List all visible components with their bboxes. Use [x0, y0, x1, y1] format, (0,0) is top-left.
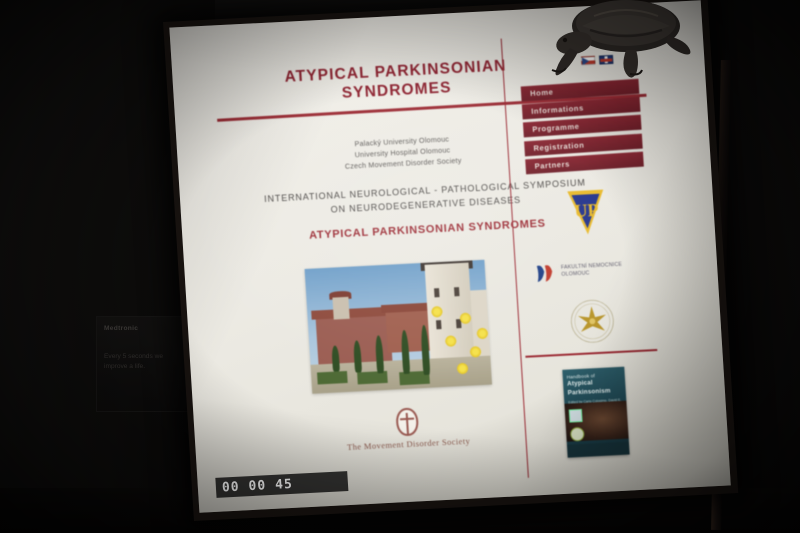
hospital-logo-text: FAKULTNÍ NEMOCNICE OLOMOUC [561, 262, 623, 279]
photo-window [454, 287, 460, 296]
timecode-minutes: 00 [248, 478, 267, 494]
right-column-divider [525, 349, 657, 357]
slide-right-column: Home Informations Programme Registration… [501, 31, 676, 478]
book-badge-primary [569, 409, 583, 423]
timecode-seconds: 45 [275, 476, 294, 492]
svg-text:UP: UP [574, 200, 599, 221]
medtronic-tagline: Every 5 seconds we improve a life. [104, 352, 184, 372]
venue-photo [305, 260, 493, 394]
photo-turret [332, 297, 349, 320]
photo-lawn-bed [317, 371, 348, 385]
partner-logos: UP FAKULTNÍ NEMOCNICE OLOMOUC [525, 179, 655, 345]
handbook-book-cover: Handbook of Atypical Parkinsonism Edited… [562, 367, 629, 458]
book-spine-strip [567, 442, 630, 458]
book-title: Handbook of Atypical Parkinsonism [567, 372, 622, 398]
conference-room-scene: Medtronic Every 5 seconds we improve a l… [0, 0, 800, 533]
turtle-sculpture-icon [534, 0, 704, 78]
photo-window [436, 320, 442, 329]
society-caption: The Movement Disorder Society [313, 434, 503, 454]
site-navigation-menu[interactable]: Home Informations Programme Registration… [521, 80, 644, 177]
projection-screen-frame: ATYPICAL PARKINSONIAN SYNDROMES Palacký … [163, 0, 738, 521]
photo-window [434, 288, 440, 297]
medtronic-logo-text: Medtronic [104, 325, 184, 332]
gold-star-emblem-icon [568, 297, 617, 345]
timecode-hours: 00 [221, 479, 240, 495]
affiliations-list: Palacký University Olomouc University Ho… [267, 129, 539, 176]
brain-emblem-icon [395, 407, 419, 436]
medtronic-banner: Medtronic Every 5 seconds we improve a l… [96, 316, 192, 412]
hospital-heart-icon [534, 261, 557, 284]
palacky-university-logo-icon: UP [563, 185, 610, 237]
subtitle-text: ATYPICAL PARKINSONIAN SYNDROMES [309, 218, 546, 242]
university-hospital-logo: FAKULTNÍ NEMOCNICE OLOMOUC [533, 253, 651, 287]
society-logo-block: The Movement Disorder Society [311, 403, 503, 454]
